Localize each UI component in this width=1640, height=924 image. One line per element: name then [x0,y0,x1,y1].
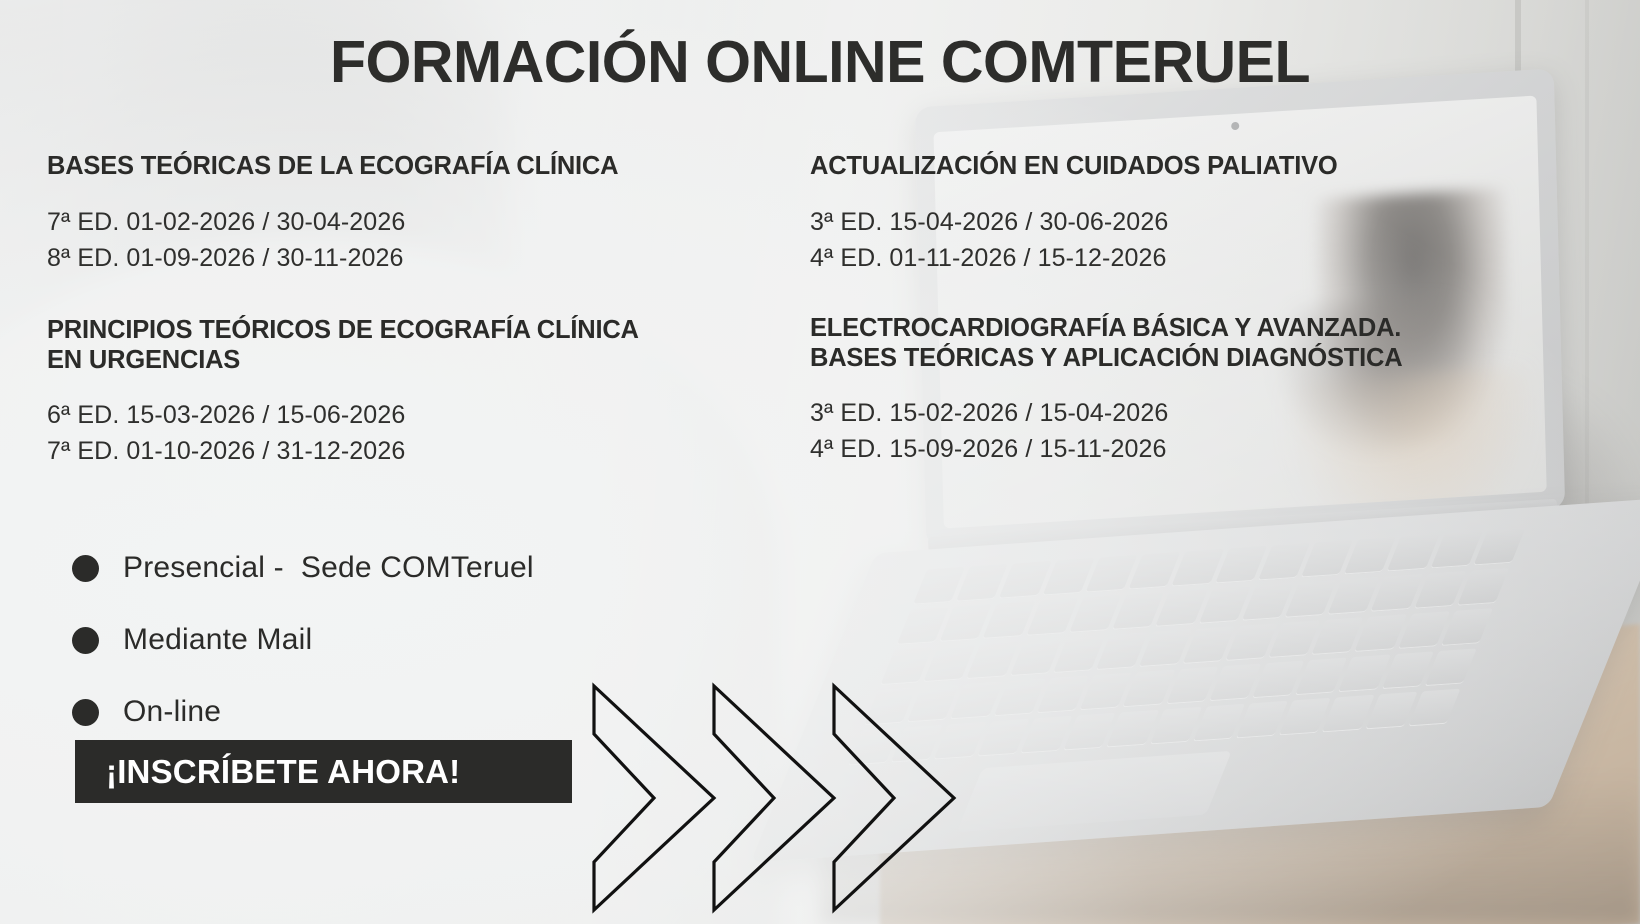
chevron-right-outline-icon [594,686,714,910]
course-edition: 3ª ED. 15-02-2026 / 15-04-2026 [810,395,1550,431]
course-editions: 6ª ED. 15-03-2026 / 15-06-2026 7ª ED. 01… [47,397,787,470]
course-title: ACTUALIZACIÓN EN CUIDADOS PALIATIVO [810,152,1550,182]
modality-label: Presencial - Sede COMTeruel [123,551,534,585]
filled-circle-bullet-icon [72,555,99,582]
list-item: Mediante Mail [72,604,534,676]
course-title: ELECTROCARDIOGRAFÍA BÁSICA Y AVANZADA. B… [810,314,1550,373]
course-edition: 3ª ED. 15-04-2026 / 30-06-2026 [810,204,1550,240]
course-edition: 4ª ED. 01-11-2026 / 15-12-2026 [810,240,1550,276]
modality-list: Presencial - Sede COMTeruel Mediante Mai… [72,532,534,748]
course-edition: 6ª ED. 15-03-2026 / 15-06-2026 [47,397,787,433]
course-item: PRINCIPIOS TEÓRICOS DE ECOGRAFÍA CLÍNICA… [47,316,787,470]
list-item: Presencial - Sede COMTeruel [72,532,534,604]
enroll-now-button[interactable]: ¡INSCRÍBETE AHORA! [75,740,572,803]
course-editions: 3ª ED. 15-04-2026 / 30-06-2026 4ª ED. 01… [810,204,1550,277]
chevron-right-outline-icon [714,686,834,910]
filled-circle-bullet-icon [72,699,99,726]
course-item: BASES TEÓRICAS DE LA ECOGRAFÍA CLÍNICA 7… [47,152,787,276]
filled-circle-bullet-icon [72,627,99,654]
course-title: PRINCIPIOS TEÓRICOS DE ECOGRAFÍA CLÍNICA… [47,316,787,375]
course-title: BASES TEÓRICAS DE LA ECOGRAFÍA CLÍNICA [47,152,787,182]
course-column-right: ACTUALIZACIÓN EN CUIDADOS PALIATIVO 3ª E… [810,152,1550,468]
course-item: ELECTROCARDIOGRAFÍA BÁSICA Y AVANZADA. B… [810,314,1550,468]
chevron-arrows-decoration [586,672,976,924]
page-title: FORMACIÓN ONLINE COMTERUEL [0,28,1640,96]
modality-label: On-line [123,695,221,729]
list-item: On-line [72,676,534,748]
course-edition: 4ª ED. 15-09-2026 / 15-11-2026 [810,431,1550,467]
course-editions: 3ª ED. 15-02-2026 / 15-04-2026 4ª ED. 15… [810,395,1550,468]
course-edition: 8ª ED. 01-09-2026 / 30-11-2026 [47,240,787,276]
course-column-left: BASES TEÓRICAS DE LA ECOGRAFÍA CLÍNICA 7… [47,152,787,470]
course-editions: 7ª ED. 01-02-2026 / 30-04-2026 8ª ED. 01… [47,204,787,277]
enroll-now-button-label: ¡INSCRÍBETE AHORA! [106,753,460,791]
promotional-banner: FORMACIÓN ONLINE COMTERUEL BASES TEÓRICA… [0,0,1640,924]
course-item: ACTUALIZACIÓN EN CUIDADOS PALIATIVO 3ª E… [810,152,1550,276]
course-edition: 7ª ED. 01-10-2026 / 31-12-2026 [47,433,787,469]
modality-label: Mediante Mail [123,623,312,657]
banner-content: FORMACIÓN ONLINE COMTERUEL BASES TEÓRICA… [0,0,1640,924]
chevron-right-outline-icon [834,686,954,910]
course-edition: 7ª ED. 01-02-2026 / 30-04-2026 [47,204,787,240]
